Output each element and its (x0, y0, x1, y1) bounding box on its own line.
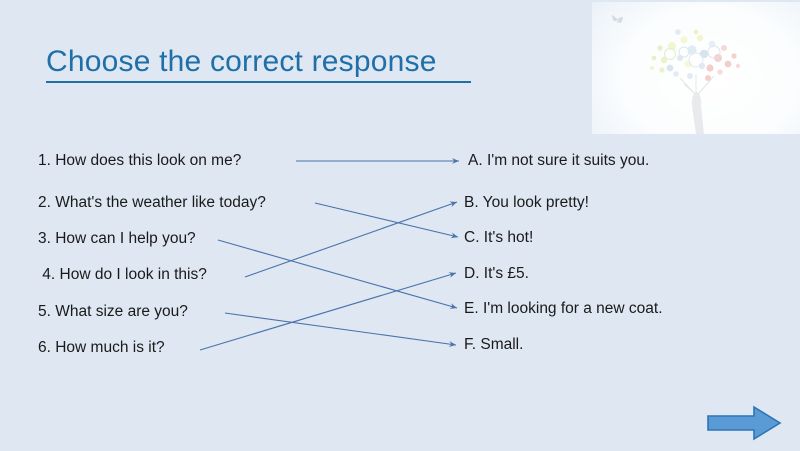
answer-item-F[interactable]: F. Small. (464, 336, 523, 354)
answer-item-A[interactable]: A. I'm not sure it suits you. (468, 152, 649, 170)
prompt-item-6[interactable]: 6. How much is it? (38, 339, 165, 357)
prompt-item-1[interactable]: 1. How does this look on me? (38, 152, 241, 170)
right-arrow-icon[interactable] (706, 405, 782, 441)
connector-2-to-C (315, 203, 458, 237)
prompt-item-4[interactable]: 4. How do I look in this? (38, 266, 207, 284)
prompt-item-2[interactable]: 2. What's the weather like today? (38, 194, 266, 212)
prompt-item-5[interactable]: 5. What size are you? (38, 303, 188, 321)
answer-item-C[interactable]: C. It's hot! (464, 229, 533, 247)
answer-item-E[interactable]: E. I'm looking for a new coat. (464, 300, 663, 318)
prompt-item-3[interactable]: 3. How can I help you? (38, 230, 196, 248)
connector-4-to-B (245, 202, 457, 277)
connector-lines (0, 0, 800, 451)
answer-item-D[interactable]: D. It's £5. (464, 265, 529, 283)
connector-6-to-D (200, 273, 456, 350)
slide-canvas: Choose the correct response 1. How does … (0, 0, 800, 451)
next-slide-button[interactable] (706, 405, 782, 441)
matching-exercise: 1. How does this look on me? 2. What's t… (0, 0, 800, 451)
answer-item-B[interactable]: B. You look pretty! (464, 194, 589, 212)
connector-5-to-F (225, 313, 456, 345)
